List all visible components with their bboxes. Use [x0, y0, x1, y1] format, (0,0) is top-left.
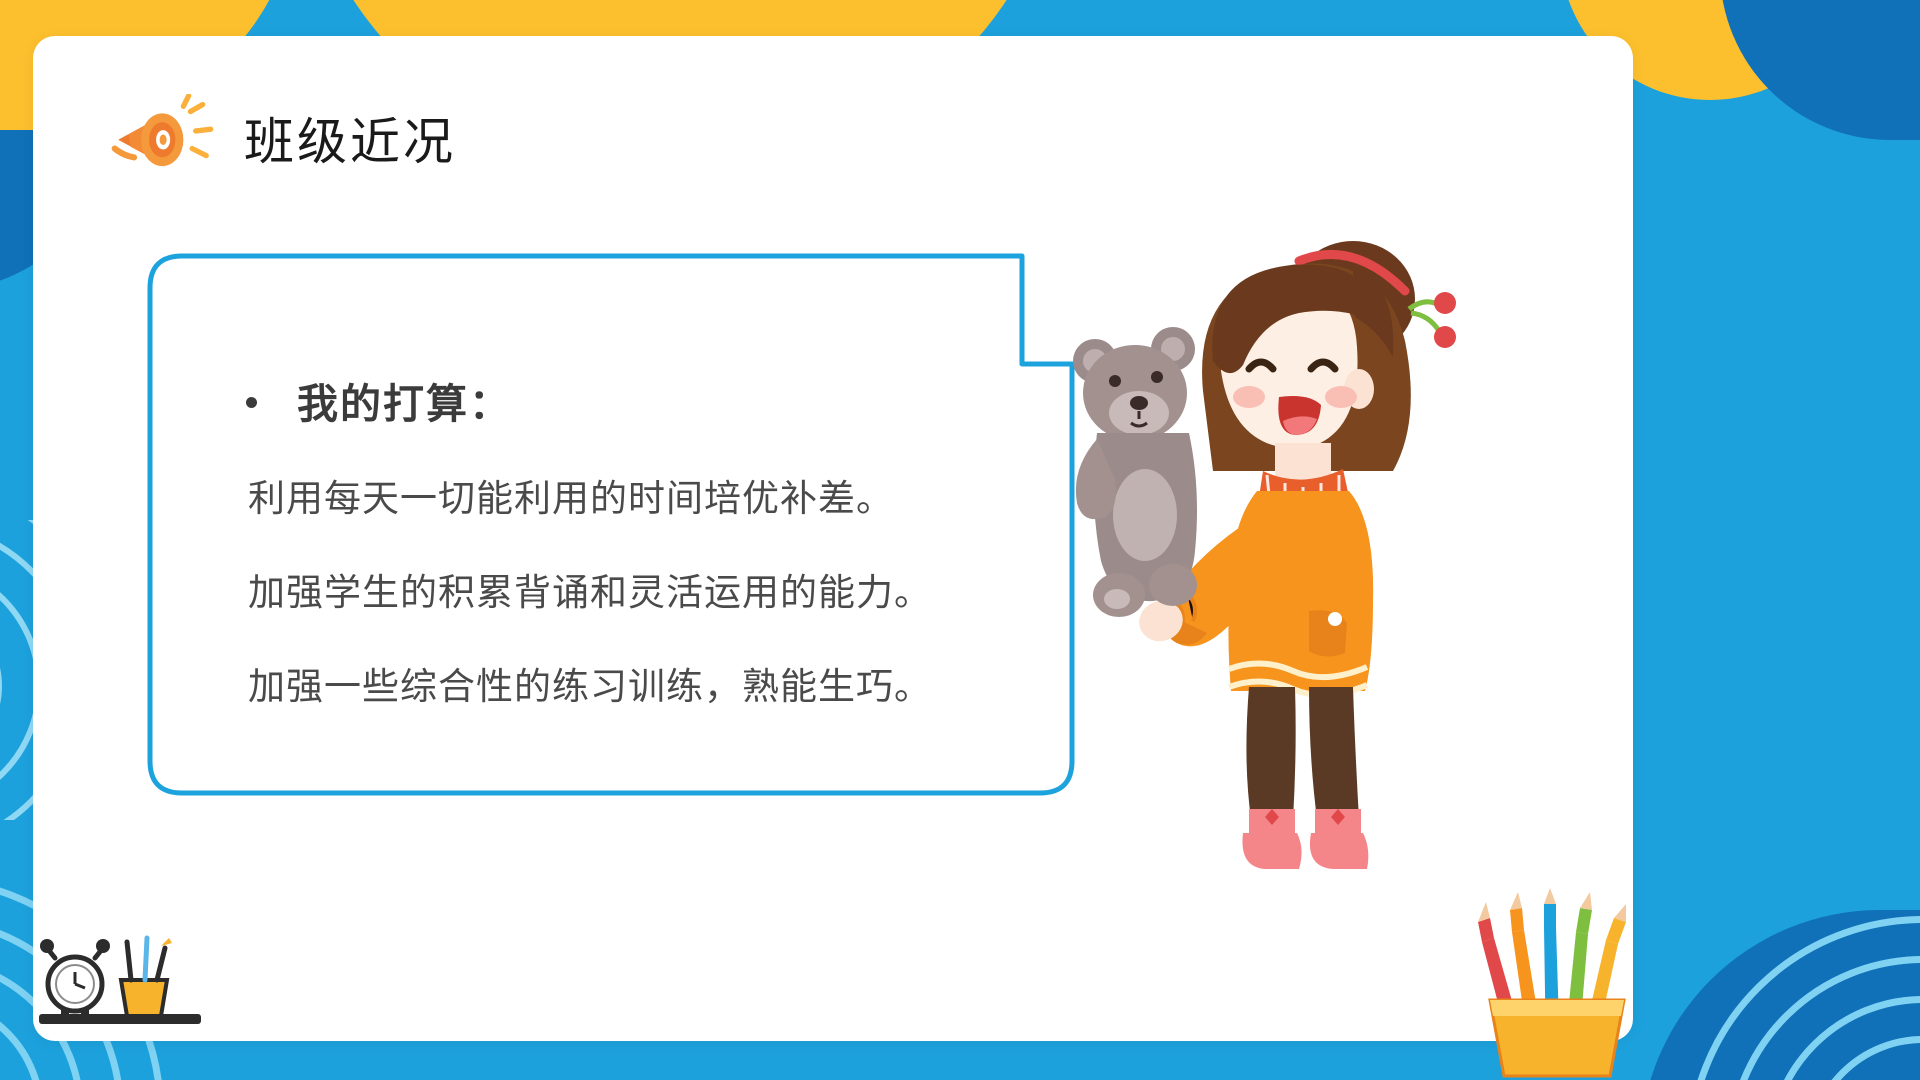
slide-root: 班级近况 我的打算： 利用每天一切能利用的时间培优补差。 加强学生的积累背诵和灵…	[0, 0, 1920, 1080]
slide-card: 班级近况 我的打算： 利用每天一切能利用的时间培优补差。 加强学生的积累背诵和灵…	[33, 36, 1633, 1041]
girl-hugging-teddy-bear-illustration	[1053, 221, 1483, 881]
content-box: 我的打算： 利用每天一切能利用的时间培优补差。 加强学生的积累背诵和灵活运用的能…	[146, 252, 1076, 797]
page-title: 班级近况	[244, 102, 456, 174]
body-line: 加强学生的积累背诵和灵活运用的能力。	[248, 574, 1068, 611]
background-stripes-bottom-right	[1620, 870, 1920, 1080]
bullet-heading-text: 我的打算：	[297, 370, 512, 430]
colored-pencils-in-cup-icon	[1460, 880, 1650, 1080]
megaphone-icon	[110, 94, 218, 182]
alarm-clock-and-pen-holder-icon	[35, 922, 205, 1032]
teddy-bear	[1073, 327, 1197, 617]
slide-header: 班级近况	[110, 94, 456, 182]
body-lines: 利用每天一切能利用的时间培优补差。 加强学生的积累背诵和灵活运用的能力。 加强一…	[248, 480, 1068, 705]
bullet-heading-row: 我的打算：	[246, 370, 512, 430]
body-line: 加强一些综合性的练习训练，熟能生巧。	[248, 668, 1068, 705]
body-line: 利用每天一切能利用的时间培优补差。	[248, 480, 1068, 517]
bullet-marker-icon	[246, 397, 257, 408]
